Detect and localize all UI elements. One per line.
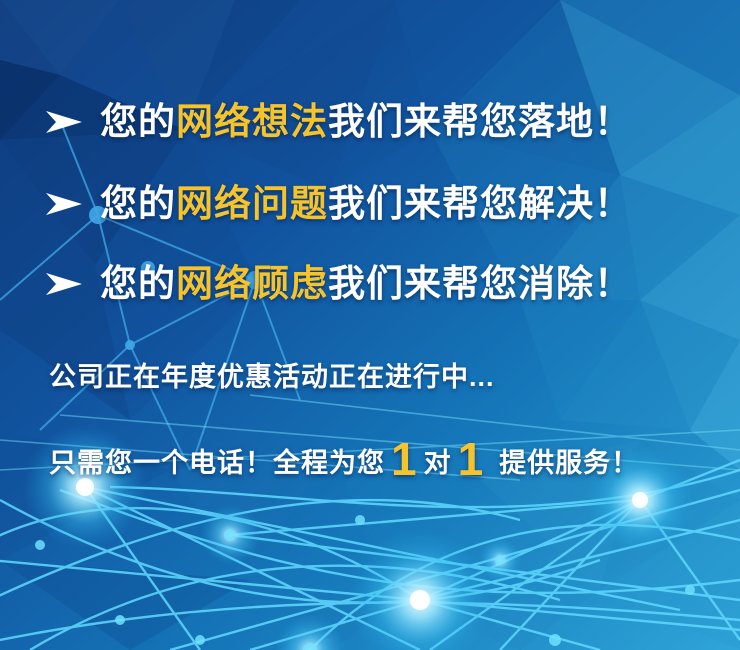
banner-content: 您的网络想法我们来帮您落地！ 您的网络问题我们来帮您解决！ 您的网络顾虑我们来帮… — [0, 0, 740, 650]
headline-1-highlight: 网络想法 — [176, 101, 328, 142]
promo-banner: 您的网络想法我们来帮您落地！ 您的网络问题我们来帮您解决！ 您的网络顾虑我们来帮… — [0, 0, 740, 650]
headline-3-prefix: 您的 — [100, 263, 176, 304]
subline-service-part2: 对 — [424, 450, 452, 477]
headline-2-prefix: 您的 — [100, 183, 176, 224]
headline-text-3: 您的网络顾虑我们来帮您消除！ — [100, 265, 632, 302]
arrow-right-icon — [44, 107, 84, 137]
service-number-one-first: 1 — [385, 436, 424, 482]
headline-2-suffix: 我们来帮您解决！ — [328, 183, 632, 224]
headline-1-prefix: 您的 — [100, 101, 176, 142]
headline-text-2: 您的网络问题我们来帮您解决！ — [100, 185, 632, 222]
headline-2-highlight: 网络问题 — [176, 183, 328, 224]
headline-text-1: 您的网络想法我们来帮您落地！ — [100, 103, 632, 140]
headline-3-suffix: 我们来帮您消除！ — [328, 263, 632, 304]
subline-service: 只需您一个电话！全程为您 1 对 1 提供服务！ — [49, 433, 639, 479]
headline-row-2: 您的网络问题我们来帮您解决！ — [44, 185, 632, 222]
headline-3-highlight: 网络顾虑 — [176, 263, 328, 304]
service-number-one-second: 1 — [452, 436, 491, 482]
subline-service-part3: 提供服务！ — [499, 450, 639, 477]
subline-promotion: 公司正在年度优惠活动正在进行中... — [49, 364, 495, 391]
arrow-right-icon — [44, 269, 84, 299]
arrow-right-icon — [44, 189, 84, 219]
subline-service-part1: 只需您一个电话！全程为您 — [49, 450, 385, 477]
headline-row-3: 您的网络顾虑我们来帮您消除！ — [44, 265, 632, 302]
headline-1-suffix: 我们来帮您落地！ — [328, 101, 632, 142]
headline-row-1: 您的网络想法我们来帮您落地！ — [44, 103, 632, 140]
